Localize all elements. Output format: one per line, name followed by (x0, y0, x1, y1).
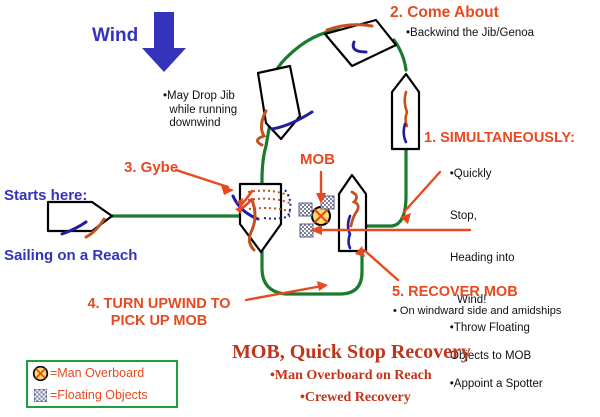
floating-object-marker (299, 203, 312, 216)
floating-object-marker (300, 224, 313, 237)
pointer-arrows (176, 170, 470, 300)
start-condition-label: Sailing on a Reach (4, 248, 137, 264)
note-drop-jib: •May Drop Jib while running downwind (163, 90, 237, 131)
step-5-bullet: • On windward side and amidships (393, 306, 561, 318)
page-title: MOB, Quick Stop Recovery (232, 342, 471, 364)
wind-arrow-icon (142, 12, 186, 72)
step-1-bullet-4: •Throw Floating (450, 322, 530, 334)
boat-come-about (325, 20, 396, 66)
step-4-title: 4. TURN UPWIND TO PICK UP MOB (64, 296, 254, 331)
step-3-gybe-title: 3. Gybe (124, 160, 178, 176)
legend-floating-label: =Floating Objects (50, 388, 148, 402)
page-subtitle-1: •Man Overboard on Reach (270, 368, 432, 383)
boat-downwind (257, 66, 312, 145)
step-2-bullet: •Backwind the Jib/Genoa (406, 27, 534, 39)
step-1-bullet-1: Stop, (437, 209, 543, 223)
legend-row-mob: =Man Overboard (28, 362, 176, 384)
diagram-canvas: Wind Starts here: Sailing on a Reach •Ma… (0, 0, 600, 417)
mob-marker-label: MOB (300, 152, 335, 168)
page-subtitle-2: •Crewed Recovery (300, 390, 411, 405)
boat-head-to-wind (392, 74, 419, 149)
step-1-bullets: •Quickly Stop, Heading into Wind! •Throw… (437, 153, 543, 405)
man-overboard-icon (32, 365, 49, 382)
legend-row-floating: =Floating Objects (28, 384, 176, 406)
step-1-bullet-6: •Appoint a Spotter (450, 378, 543, 390)
step-5-title: 5. RECOVER MOB (392, 285, 518, 301)
step-1-bullet-0: •Quickly (450, 168, 492, 180)
mob-person-marker (312, 207, 330, 225)
step-2-come-about-title: 2. Come About (390, 5, 499, 22)
legend-box: =Man Overboard =Floating Objects (26, 360, 178, 408)
legend-mob-label: =Man Overboard (50, 366, 144, 380)
wind-label: Wind (92, 26, 138, 47)
start-label: Starts here: (4, 188, 87, 204)
step-1-title: 1. SIMULTANEOUSLY: (424, 131, 575, 147)
step-1-bullet-2: Heading into (437, 251, 543, 265)
boat-recover-mob (339, 175, 366, 251)
boat-start (48, 202, 112, 237)
floating-objects-icon (34, 389, 47, 402)
boat-gybe (233, 184, 292, 252)
